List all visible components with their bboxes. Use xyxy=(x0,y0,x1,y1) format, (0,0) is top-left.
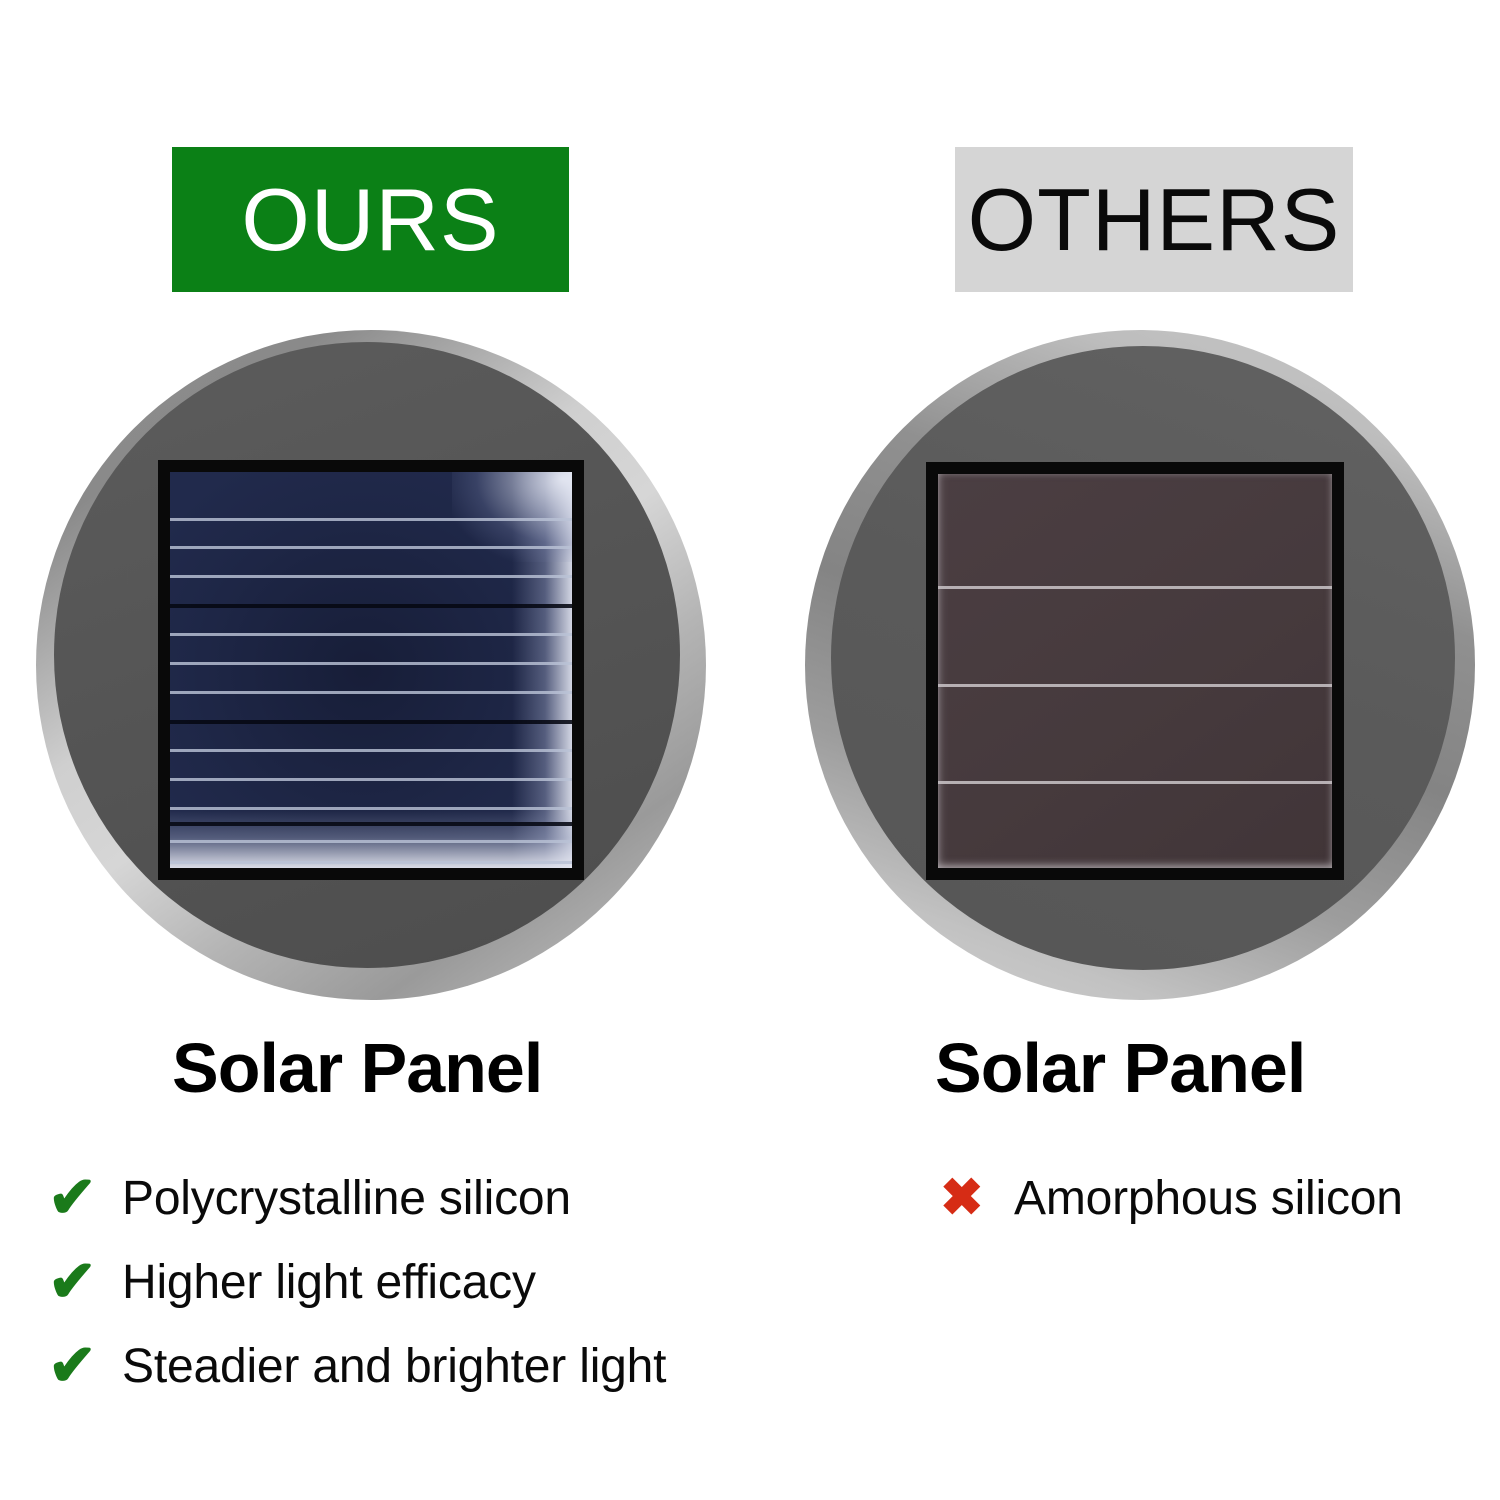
panel-grid-line xyxy=(170,604,572,608)
comparison-infographic: OURS Solar Panel ✔Polycrystalline silico… xyxy=(0,0,1500,1500)
feature-label: Polycrystalline silicon xyxy=(122,1171,571,1226)
panel-glow-edge-others xyxy=(938,474,1332,868)
panel-grid-line xyxy=(170,691,572,694)
panel-grid-line xyxy=(170,633,572,636)
panel-grid-line xyxy=(938,684,1332,687)
panel-grid-line xyxy=(170,807,572,810)
panel-grid-line xyxy=(170,720,572,724)
panel-glow-bottom-ours xyxy=(170,810,572,868)
panel-grid-line xyxy=(170,822,572,826)
solar-panel-ours xyxy=(158,460,584,880)
feature-list-ours: ✔Polycrystalline silicon✔Higher light ef… xyxy=(48,1160,666,1412)
solar-panel-face-amorphous xyxy=(938,474,1332,868)
feature-label: Amorphous silicon xyxy=(1014,1171,1403,1226)
check-icon: ✔ xyxy=(48,1169,122,1227)
panel-grid-line xyxy=(170,518,572,521)
feature-label: Steadier and brighter light xyxy=(122,1339,666,1394)
panel-grid-line xyxy=(170,662,572,665)
column-ours: OURS Solar Panel ✔Polycrystalline silico… xyxy=(0,0,750,1500)
feature-list-others: ✖Amorphous silicon xyxy=(940,1160,1403,1244)
column-others: OTHERS Solar Panel ✖Amorphous silicon xyxy=(750,0,1500,1500)
panel-grid-line xyxy=(170,840,572,843)
panel-grid-line xyxy=(170,778,572,781)
badge-others: OTHERS xyxy=(955,147,1353,292)
check-icon: ✔ xyxy=(48,1253,122,1311)
panel-grid-line xyxy=(938,586,1332,589)
product-title-others: Solar Panel xyxy=(935,1028,1305,1108)
badge-others-label: OTHERS xyxy=(968,176,1341,264)
panel-grid-line xyxy=(938,781,1332,784)
feature-row: ✔Steadier and brighter light xyxy=(48,1328,666,1404)
feature-row: ✖Amorphous silicon xyxy=(940,1160,1403,1236)
check-icon: ✔ xyxy=(48,1337,122,1395)
cross-icon: ✖ xyxy=(940,1172,1014,1224)
panel-grid-line xyxy=(170,575,572,578)
panel-grid-line xyxy=(170,861,572,864)
feature-row: ✔Higher light efficacy xyxy=(48,1244,666,1320)
badge-ours-label: OURS xyxy=(241,176,499,264)
solar-panel-face-poly xyxy=(170,472,572,868)
panel-grid-line xyxy=(170,546,572,549)
panel-grid-line xyxy=(170,749,572,752)
product-title-ours: Solar Panel xyxy=(172,1028,542,1108)
feature-label: Higher light efficacy xyxy=(122,1255,536,1310)
solar-panel-others xyxy=(926,462,1344,880)
badge-ours: OURS xyxy=(172,147,569,292)
feature-row: ✔Polycrystalline silicon xyxy=(48,1160,666,1236)
